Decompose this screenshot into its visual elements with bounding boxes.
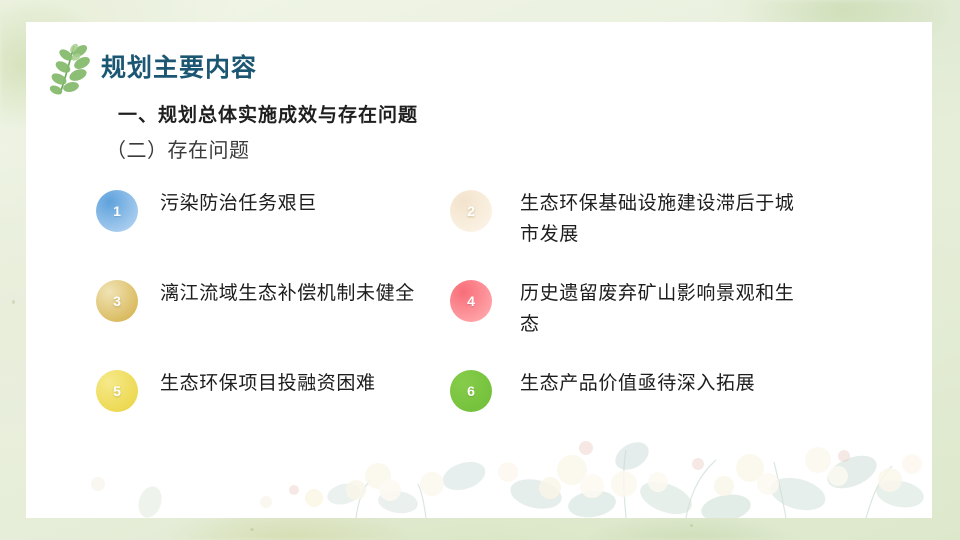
item-label-6: 生态产品价值亟待深入拓展 [520, 368, 755, 399]
item-row: 3 漓江流域生态补偿机制未健全 4 历史遗留废弃矿山影响景观和生态 [26, 278, 932, 368]
background-speck [250, 528, 254, 531]
item-row: 1 污染防治任务艰巨 2 生态环保基础设施建设滞后于城市发展 [26, 188, 932, 278]
section-heading: 一、规划总体实施成效与存在问题 [118, 100, 418, 127]
item-number-badge-1: 1 [96, 190, 138, 232]
list-item-5[interactable]: 5 生态环保项目投融资困难 [96, 368, 486, 412]
subsection-heading: （二）存在问题 [106, 134, 250, 163]
leaf-branch-icon [44, 42, 98, 98]
item-label-2: 生态环保基础设施建设滞后于城市发展 [520, 188, 810, 250]
slide-canvas: 规划主要内容 一、规划总体实施成效与存在问题 （二）存在问题 1 污染防治任务艰… [0, 0, 960, 540]
list-item-3[interactable]: 3 漓江流域生态补偿机制未健全 [96, 278, 486, 322]
item-label-3: 漓江流域生态补偿机制未健全 [160, 278, 415, 309]
item-number-badge-2: 2 [450, 190, 492, 232]
list-item-4[interactable]: 4 历史遗留废弃矿山影响景观和生态 [450, 278, 850, 340]
item-label-5: 生态环保项目投融资困难 [160, 368, 376, 399]
background-speck [12, 300, 15, 304]
list-item-2[interactable]: 2 生态环保基础设施建设滞后于城市发展 [450, 188, 850, 250]
page-title: 规划主要内容 [101, 48, 257, 84]
item-number-badge-3: 3 [96, 280, 138, 322]
problem-list: 1 污染防治任务艰巨 2 生态环保基础设施建设滞后于城市发展 3 漓江流域生态补… [26, 188, 932, 458]
item-number-badge-5: 5 [96, 370, 138, 412]
item-number-badge-6: 6 [450, 370, 492, 412]
item-label-1: 污染防治任务艰巨 [160, 188, 317, 219]
content-card: 规划主要内容 一、规划总体实施成效与存在问题 （二）存在问题 1 污染防治任务艰… [26, 22, 932, 518]
list-item-1[interactable]: 1 污染防治任务艰巨 [96, 188, 486, 232]
item-row: 5 生态环保项目投融资困难 6 生态产品价值亟待深入拓展 [26, 368, 932, 458]
background-speck [690, 524, 693, 527]
list-item-6[interactable]: 6 生态产品价值亟待深入拓展 [450, 368, 850, 412]
item-number-badge-4: 4 [450, 280, 492, 322]
item-label-4: 历史遗留废弃矿山影响景观和生态 [520, 278, 810, 340]
